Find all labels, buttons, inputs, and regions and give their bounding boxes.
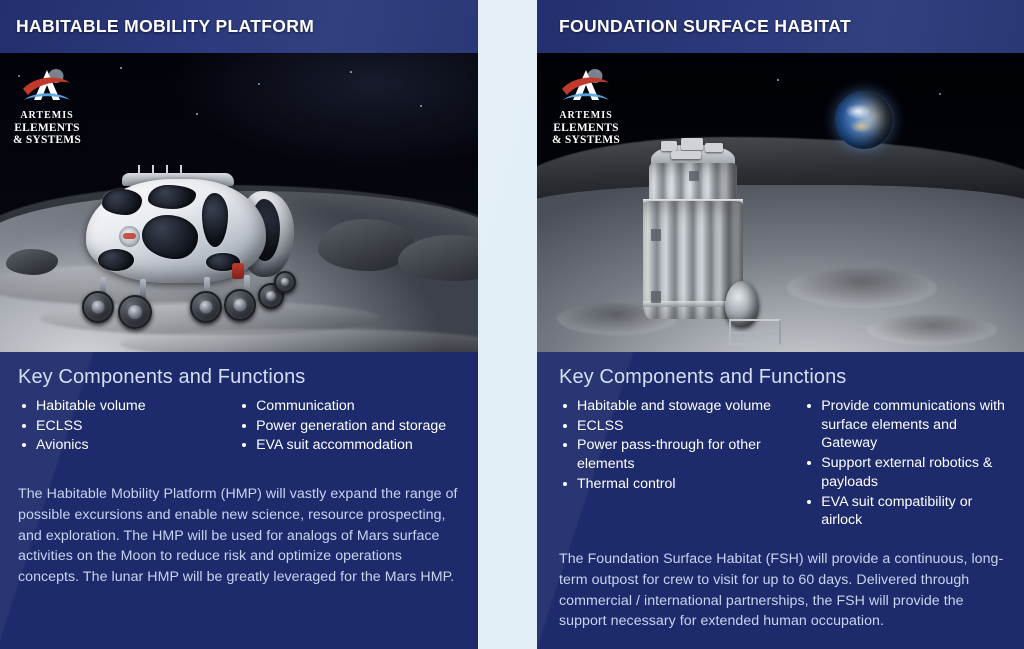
section-title-key-components-right: Key Components and Functions xyxy=(559,366,1010,389)
bullet-list-left-col2: Communication Power generation and stora… xyxy=(238,397,462,455)
star-icon xyxy=(420,105,422,107)
logo-wordmark: ARTEMIS ELEMENTS & SYSTEMS xyxy=(549,111,623,147)
nasa-insignia-icon xyxy=(119,226,140,247)
list-item: Habitable volume xyxy=(18,397,238,416)
habitat-panel-marking xyxy=(689,171,699,181)
earthrise-planet xyxy=(835,91,893,149)
logo-line-systems: & SYSTEMS xyxy=(10,134,84,146)
rover-cutout xyxy=(148,185,196,209)
habitat-panel-marking xyxy=(651,229,661,241)
list-item: Power pass-through for other elements xyxy=(559,436,803,473)
bullet-columns-left: Habitable volume ECLSS Avionics Communic… xyxy=(18,397,462,456)
logo-line-artemis: ARTEMIS xyxy=(10,111,84,122)
list-item: ECLSS xyxy=(18,417,238,436)
bullet-list-right-col2: Provide communications with surface elem… xyxy=(803,397,1010,530)
panel-body-right: Key Components and Functions Habitable a… xyxy=(537,352,1024,649)
star-icon xyxy=(196,113,198,115)
habitat-equipment xyxy=(661,141,677,151)
habitat-equipment xyxy=(681,138,703,150)
star-icon xyxy=(939,93,941,95)
artemis-elements-and-systems-logo: ARTEMIS ELEMENTS & SYSTEMS xyxy=(549,67,623,147)
antenna-icon xyxy=(152,165,154,174)
rover-wheel xyxy=(82,291,114,323)
bullet-list-right-col1: Habitable and stowage volume ECLSS Power… xyxy=(559,397,803,494)
antenna-icon xyxy=(180,165,182,174)
panel-foundation-surface-habitat: FOUNDATION SURFACE HABITAT xyxy=(537,0,1024,649)
star-icon xyxy=(777,79,779,81)
panel-divider-gap xyxy=(478,0,537,649)
page-title-left: HABITABLE MOBILITY PLATFORM xyxy=(16,16,314,37)
list-item: Thermal control xyxy=(559,475,803,494)
logo-line-artemis: ARTEMIS xyxy=(549,111,623,122)
logo-line-systems: & SYSTEMS xyxy=(549,134,623,146)
lunar-rover-vehicle xyxy=(78,173,293,333)
artemis-a-symbol-icon xyxy=(559,67,613,111)
rover-wheel xyxy=(274,271,296,293)
list-item: EVA suit accommodation xyxy=(238,436,462,455)
foundation-surface-habitat-module xyxy=(637,141,749,321)
logo-line-elements: ELEMENTS xyxy=(10,122,84,134)
habitat-panel-marking xyxy=(651,291,661,303)
list-item: Support external robotics & payloads xyxy=(803,454,1010,491)
boulder-rock xyxy=(6,249,58,275)
bullet-column-1-right: Habitable and stowage volume ECLSS Power… xyxy=(559,397,803,531)
photo-lunar-rover: ARTEMIS ELEMENTS & SYSTEMS xyxy=(0,53,478,352)
section-title-key-components-left: Key Components and Functions xyxy=(18,366,462,389)
artemis-a-symbol-icon xyxy=(20,67,74,111)
bullet-column-2-right: Provide communications with surface elem… xyxy=(803,397,1010,531)
list-item: EVA suit compatibility or airlock xyxy=(803,493,1010,530)
bullet-column-1-left: Habitable volume ECLSS Avionics xyxy=(18,397,238,456)
logo-line-elements: ELEMENTS xyxy=(549,122,623,134)
habitat-equipment xyxy=(671,151,701,159)
rover-wheel xyxy=(224,289,256,321)
description-paragraph-left: The Habitable Mobility Platform (HMP) wi… xyxy=(18,484,462,588)
list-item: Provide communications with surface elem… xyxy=(803,397,1010,453)
photo-surface-habitat: ARTEMIS ELEMENTS & SYSTEMS xyxy=(537,53,1024,352)
list-item: Habitable and stowage volume xyxy=(559,397,803,416)
rover-window xyxy=(202,193,228,247)
antenna-icon xyxy=(166,165,168,174)
logo-wordmark: ARTEMIS ELEMENTS & SYSTEMS xyxy=(10,111,84,147)
panel-body-left: Key Components and Functions Habitable v… xyxy=(0,352,478,649)
rover-habitable-cabin xyxy=(86,179,266,283)
artemis-elements-and-systems-logo: ARTEMIS ELEMENTS & SYSTEMS xyxy=(10,67,84,147)
antenna-icon xyxy=(138,165,140,174)
star-icon xyxy=(350,71,352,73)
list-item: Communication xyxy=(238,397,462,416)
list-item: Power generation and storage xyxy=(238,417,462,436)
star-icon xyxy=(120,67,122,69)
rover-cutout xyxy=(98,249,134,271)
crater xyxy=(787,268,937,308)
rover-cutout xyxy=(142,215,198,259)
description-paragraph-right: The Foundation Surface Habitat (FSH) wil… xyxy=(559,549,1010,632)
habitat-equipment xyxy=(705,143,723,152)
rover-wheel xyxy=(118,295,152,329)
star-icon xyxy=(258,83,260,85)
panel-header-left: HABITABLE MOBILITY PLATFORM xyxy=(0,0,478,53)
list-item: ECLSS xyxy=(559,417,803,436)
panel-habitable-mobility-platform: HABITABLE MOBILITY PLATFORM xyxy=(0,0,478,649)
list-item: Avionics xyxy=(18,436,238,455)
rover-wheel xyxy=(190,291,222,323)
bullet-list-left-col1: Habitable volume ECLSS Avionics xyxy=(18,397,238,455)
rover-cutout xyxy=(102,189,142,215)
artemis-elements-slide: HABITABLE MOBILITY PLATFORM xyxy=(0,0,1024,649)
page-title-right: FOUNDATION SURFACE HABITAT xyxy=(559,16,851,37)
bullet-columns-right: Habitable and stowage volume ECLSS Power… xyxy=(559,397,1010,531)
rover-red-marking xyxy=(232,263,244,279)
panel-header-right: FOUNDATION SURFACE HABITAT xyxy=(537,0,1024,53)
crater xyxy=(867,315,997,345)
bullet-column-2-left: Communication Power generation and stora… xyxy=(238,397,462,456)
habitat-access-ladder xyxy=(729,319,781,345)
